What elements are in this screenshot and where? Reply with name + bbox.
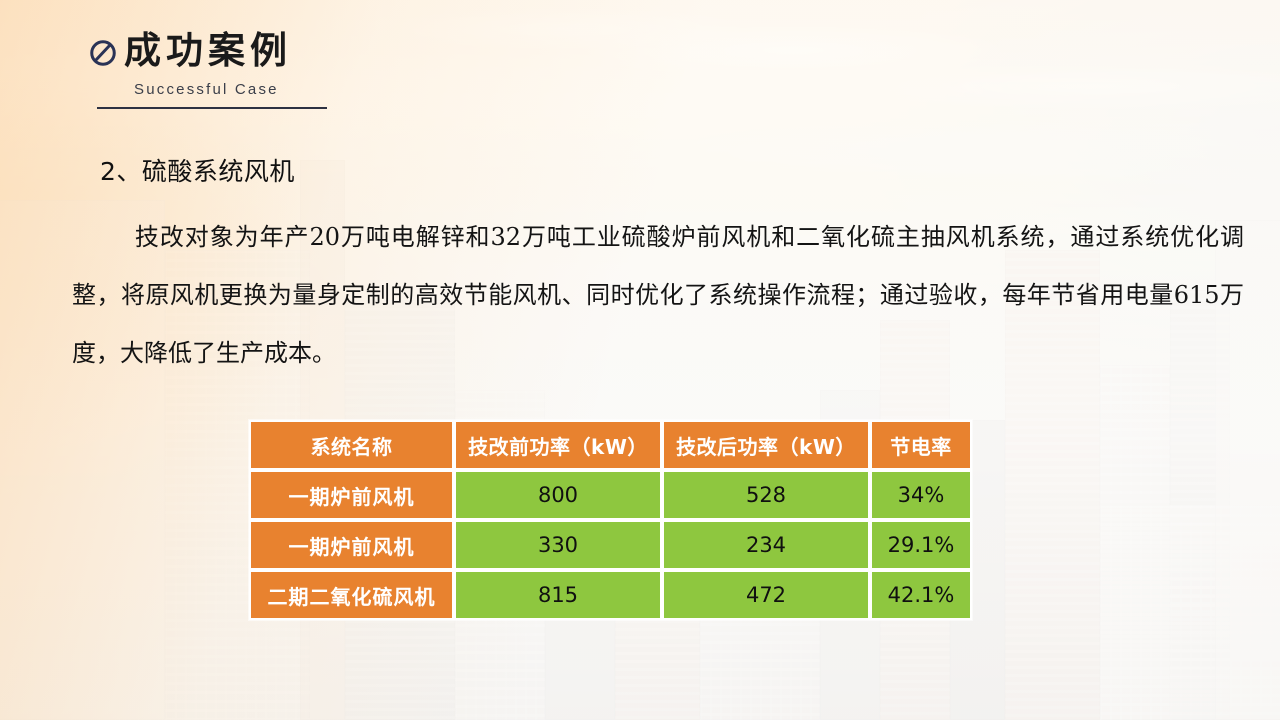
body-paragraph: 技改对象为年产20万吨电解锌和32万吨工业硫酸炉前风机和二氧化硫主抽风机系统，通…	[72, 208, 1244, 382]
table-row: 一期炉前风机 330 234 29.1%	[249, 520, 972, 570]
paragraph-line-1: 技改对象为年产20万吨电解锌和32万吨工业硫酸炉前风机和二氧化硫主抽风机系统，通…	[134, 223, 1170, 251]
slide-canvas: 成功案例 Successful Case 2、硫酸系统风机 技改对象为年产20万…	[0, 0, 1280, 720]
column-header-power-after: 技改后功率（kW）	[662, 420, 870, 470]
cell-power-after: 528	[662, 470, 870, 520]
table-row: 二期二氧化硫风机 815 472 42.1%	[249, 570, 972, 620]
cell-power-after: 472	[662, 570, 870, 620]
cell-system-name: 一期炉前风机	[249, 520, 454, 570]
title-row: 成功案例	[88, 32, 388, 71]
cell-power-before: 800	[454, 470, 662, 520]
column-header-system-name: 系统名称	[249, 420, 454, 470]
table-header-row: 系统名称 技改前功率（kW） 技改后功率（kW） 节电率	[249, 420, 972, 470]
cell-saving-rate: 42.1%	[870, 570, 972, 620]
section-heading: 2、硫酸系统风机	[100, 152, 295, 188]
column-header-power-before: 技改前功率（kW）	[454, 420, 662, 470]
fan-retrofit-table: 系统名称 技改前功率（kW） 技改后功率（kW） 节电率 一期炉前风机 800 …	[249, 420, 972, 620]
cell-power-before: 815	[454, 570, 662, 620]
cell-saving-rate: 34%	[870, 470, 972, 520]
cell-saving-rate: 29.1%	[870, 520, 972, 570]
table-row: 一期炉前风机 800 528 34%	[249, 470, 972, 520]
page-title: 成功案例	[124, 32, 292, 71]
column-header-saving-rate: 节电率	[870, 420, 972, 470]
page-subtitle: Successful Case	[134, 81, 388, 98]
cell-power-before: 330	[454, 520, 662, 570]
cell-system-name: 二期二氧化硫风机	[249, 570, 454, 620]
slide-header: 成功案例 Successful Case	[88, 32, 388, 109]
cell-system-name: 一期炉前风机	[249, 470, 454, 520]
slashed-circle-icon	[88, 38, 118, 68]
cell-power-after: 234	[662, 520, 870, 570]
title-underline-rule	[97, 107, 327, 109]
